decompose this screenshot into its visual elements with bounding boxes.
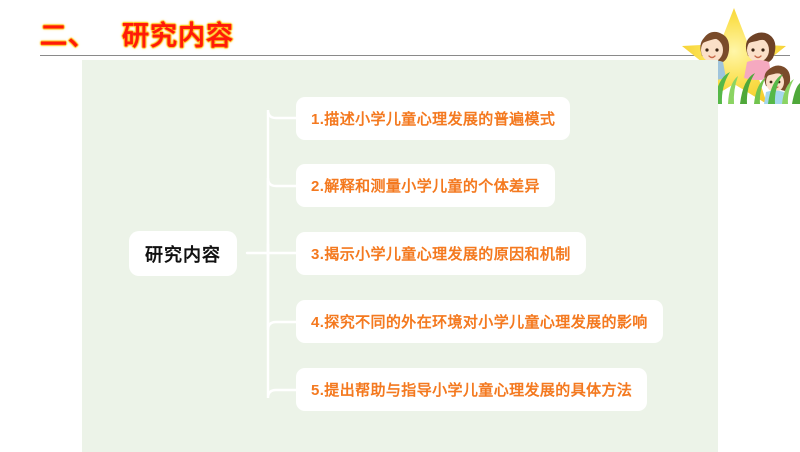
mindmap-item-4-label: 4.探究不同的外在环境对小学儿童心理发展的影响 [311, 311, 648, 332]
mindmap-root-label: 研究内容 [145, 241, 221, 267]
mindmap-item-1[interactable]: 1.描述小学儿童心理发展的普遍模式 [296, 97, 570, 140]
mindmap-item-1-label: 1.描述小学儿童心理发展的普遍模式 [311, 108, 555, 129]
mindmap-root-node[interactable]: 研究内容 [129, 231, 237, 276]
page-title-text: 研究内容 [122, 14, 234, 53]
page-title-number: 二、 [40, 14, 96, 53]
mindmap-item-2[interactable]: 2.解释和测量小学儿童的个体差异 [296, 164, 555, 207]
slide-canvas: 二、 研究内容 [0, 0, 800, 450]
mindmap-item-4[interactable]: 4.探究不同的外在环境对小学儿童心理发展的影响 [296, 300, 663, 343]
mindmap-item-3[interactable]: 3.揭示小学儿童心理发展的原因和机制 [296, 232, 586, 275]
mindmap-item-5-label: 5.提出帮助与指导小学儿童心理发展的具体方法 [311, 379, 632, 400]
page-title: 二、 研究内容 [40, 14, 234, 53]
mindmap-item-5[interactable]: 5.提出帮助与指导小学儿童心理发展的具体方法 [296, 368, 647, 411]
mindmap-item-2-label: 2.解释和测量小学儿童的个体差异 [311, 175, 540, 196]
mindmap-item-3-label: 3.揭示小学儿童心理发展的原因和机制 [311, 243, 571, 264]
